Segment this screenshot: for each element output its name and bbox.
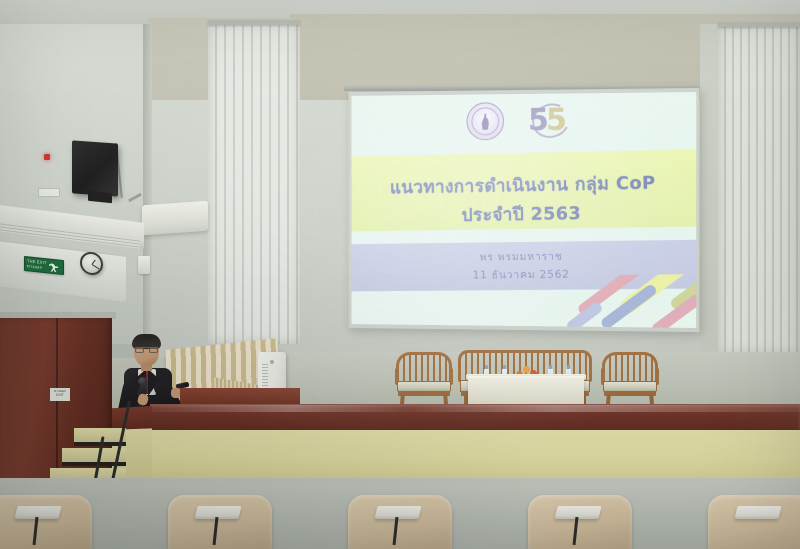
vertical-blinds-left: [208, 22, 300, 344]
armchair-backrest: [602, 352, 658, 384]
air-conditioner-unit: [142, 201, 208, 236]
door-center-seam: [56, 318, 58, 490]
front-row-seating: [0, 492, 800, 549]
eyeglasses-icon: [135, 347, 158, 352]
armchair-left: [394, 352, 454, 412]
stage-front-panel: [150, 430, 800, 480]
door-sign-line2: EXIT: [51, 393, 69, 397]
ceiling-speaker: [72, 140, 118, 196]
exit-sign-text: THE EXIT ทางออก: [27, 260, 47, 270]
microphone-head-icon: [138, 377, 147, 385]
stage-edge-highlight: [150, 405, 800, 412]
purifier-indicator-icon: [270, 360, 274, 364]
auditorium-seat[interactable]: [168, 491, 272, 549]
left-wall-corner: [143, 24, 152, 344]
anniversary-digit-second: 5: [546, 106, 567, 136]
presentation-slide: 5 5 แนวทางการดำเนินงาน กลุ่ม CoP ประจำปี…: [351, 92, 696, 328]
seat-backrest: [348, 495, 452, 549]
anniversary-55-logo-icon: 5 5: [526, 101, 576, 140]
slide-author: พร พรมมหาราช: [351, 246, 696, 267]
armchair-apron: [398, 391, 450, 396]
armchair-backrest: [396, 352, 452, 384]
auditorium-seat[interactable]: [528, 491, 632, 549]
photo-scene: THE EXIT ทางออก 5 5 แนวทาง: [0, 0, 800, 549]
vertical-blinds-right: [718, 24, 800, 354]
wall-thermostat: [138, 256, 150, 274]
seat-backrest: [708, 495, 800, 549]
slide-title-line1: แนวทางการดำเนินงาน กลุ่ม CoP: [351, 168, 696, 202]
projection-screen: 5 5 แนวทางการดำเนินงาน กลุ่ม CoP ประจำปี…: [349, 88, 700, 332]
seat-backrest: [168, 495, 272, 549]
indicator-light-icon: [44, 154, 50, 160]
slide-logos: 5 5: [351, 100, 696, 141]
flower-bloom: [523, 366, 530, 373]
auditorium-seat[interactable]: [348, 491, 452, 549]
seat-backrest: [528, 495, 632, 549]
stage-furniture-set: [386, 340, 662, 412]
seat-backrest: [0, 495, 92, 549]
wall-notice-plate: [38, 188, 60, 197]
eyeglass-lens-right: [149, 348, 158, 353]
auditorium-seat[interactable]: [0, 491, 92, 549]
blinds-rail-right: [718, 22, 800, 27]
running-man-icon: [49, 260, 60, 272]
eyeglass-lens-left: [135, 348, 144, 353]
clock-minute-hand: [91, 264, 99, 269]
blinds-rail-left: [208, 20, 300, 25]
institution-seal-logo-icon: [466, 102, 504, 140]
seal-emblem-icon: [479, 113, 492, 130]
door-sign: ทางออก EXIT: [50, 388, 70, 401]
armchair-right: [600, 352, 660, 412]
auditorium-seat[interactable]: [708, 491, 800, 549]
seat-writing-tablet[interactable]: [734, 506, 781, 519]
armchair-apron: [604, 391, 656, 396]
slide-decoration-stripes: [561, 274, 696, 328]
slide-title-line2: ประจำปี 2563: [351, 197, 696, 230]
